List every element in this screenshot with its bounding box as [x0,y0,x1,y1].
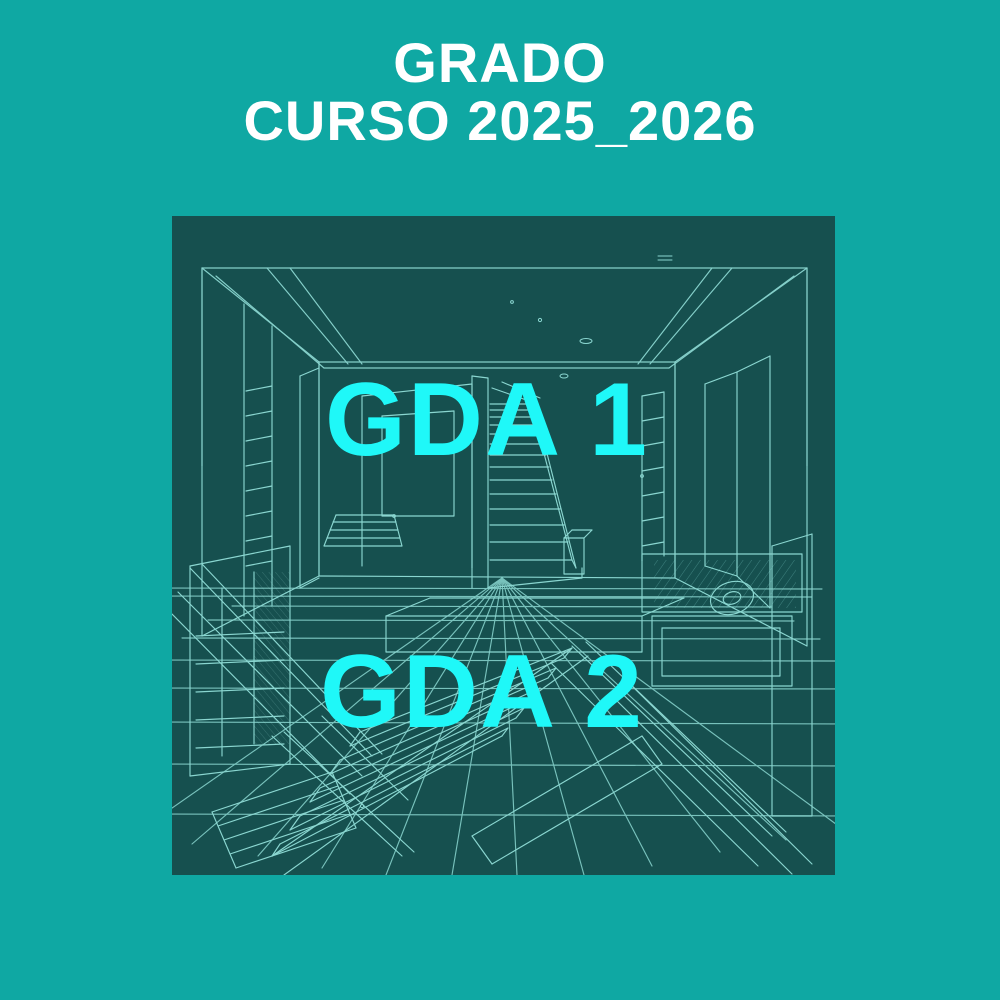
course-label-gda2: GDA 2 [320,640,644,744]
title-line-curso: CURSO 2025_2026 [0,92,1000,150]
architectural-wireframe-illustration [172,216,835,875]
artwork-panel: GDA 1 GDA 2 [172,216,835,875]
left-stair-flight [324,515,402,546]
course-label-gda1: GDA 1 [325,368,649,472]
title-line-grado: GRADO [0,34,1000,92]
poster-canvas: GRADO CURSO 2025_2026 [0,0,1000,1000]
poster-title: GRADO CURSO 2025_2026 [0,34,1000,150]
